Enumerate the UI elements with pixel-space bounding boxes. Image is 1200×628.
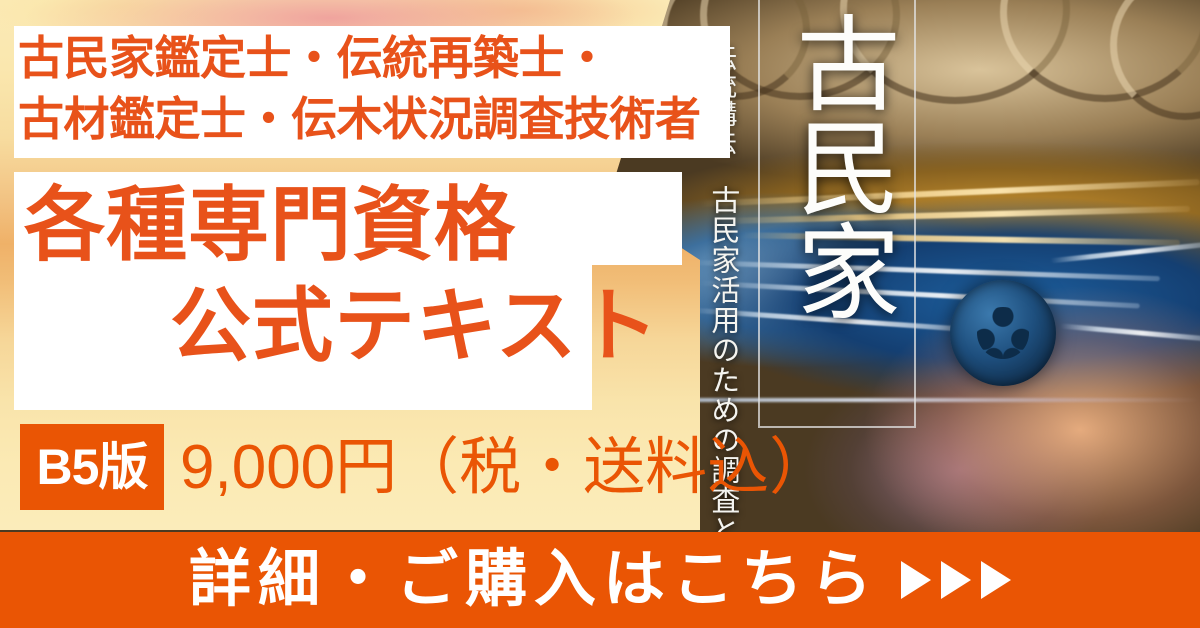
carving-relief-swirl (1110, 0, 1200, 120)
qualification-headline: 古民家鑑定士・伝統再築士・ 古材鑑定士・伝木状況調査技術者 (18, 28, 730, 150)
format-badge-label: B5版 (37, 442, 148, 492)
cover-title-text: 古民家 (790, 10, 900, 322)
triangle-right-icon (981, 561, 1011, 599)
family-crest-medallion (950, 280, 1056, 386)
main-title-line1: 各種専門資格 (24, 186, 516, 267)
triangle-right-icon (941, 561, 971, 599)
format-badge: B5版 (20, 424, 164, 510)
cta-label: 詳細・ご購入はこちら (189, 549, 879, 611)
cta-bar[interactable]: 詳細・ご購入はこちら (0, 532, 1200, 628)
main-title-line2: 公式テキスト (170, 287, 660, 368)
cta-arrows (901, 561, 1011, 599)
carving-highlight-line (1060, 323, 1200, 341)
price-text: 9,000円（税・送料込） (180, 431, 831, 505)
triangle-right-icon (901, 561, 931, 599)
promo-banner[interactable]: 古民家 伝統構法 古民家活用のための調査と再生の 古民家鑑定士・伝統再築士・ 古… (0, 0, 1200, 628)
